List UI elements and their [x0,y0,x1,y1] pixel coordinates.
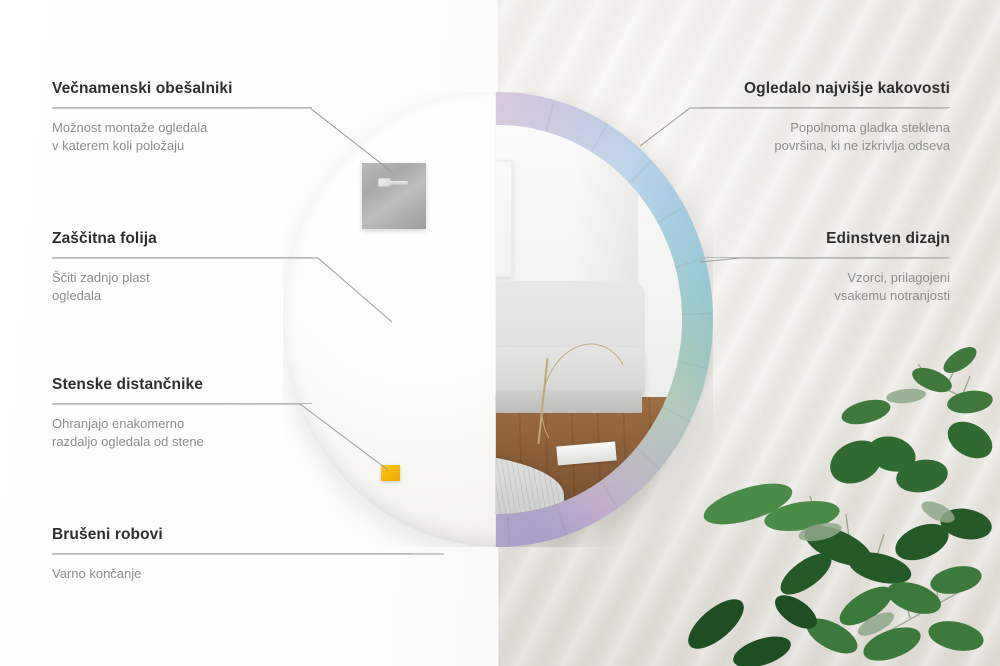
callout-description: Vzorci, prilagojeni vsakemu notranjosti [700,269,950,305]
callout-rule [700,107,950,108]
callout-description: Ohranjajo enakomerno razdaljo ogledala o… [52,415,312,451]
callout-rule [52,257,312,258]
callout-highest-quality-mirror: Ogledalo najvišje kakovosti Popolnoma gl… [700,80,950,155]
callout-title: Stenske distančnike [52,376,312,394]
callout-wall-spacers: Stenske distančnike Ohranjajo enakomerno… [52,376,312,451]
infographic-canvas: Večnamenski obešalniki Možnost montaže o… [0,0,1000,666]
callout-unique-design: Edinstven dizajn Vzorci, prilagojeni vsa… [700,230,950,305]
callout-description: Varno končanje [52,565,412,583]
callout-multipurpose-hangers: Večnamenski obešalniki Možnost montaže o… [52,80,312,155]
callout-rule [52,403,312,404]
callout-title: Brušeni robovi [52,526,412,544]
hanger-plate [362,163,426,229]
hanger-hook-icon [378,177,408,188]
callout-polished-edges: Brušeni robovi Varno končanje [52,526,412,583]
callout-title: Zaščitna folija [52,230,312,248]
callout-title: Večnamenski obešalniki [52,80,312,98]
callout-rule [52,107,312,108]
callout-rule [700,257,950,258]
hanger-bar [389,181,408,185]
callout-title: Ogledalo najvišje kakovosti [700,80,950,98]
callout-protective-film: Zaščitna folija Ščiti zadnjo plast ogled… [52,230,312,305]
callout-description: Možnost montaže ogledala v katerem koli … [52,119,312,155]
callout-description: Popolnoma gladka steklena površina, ki n… [700,119,950,155]
wall-spacer [381,465,400,481]
callout-rule [52,553,412,554]
callout-title: Edinstven dizajn [700,230,950,248]
mirror-product [283,92,713,547]
callout-description: Ščiti zadnjo plast ogledala [52,269,312,305]
